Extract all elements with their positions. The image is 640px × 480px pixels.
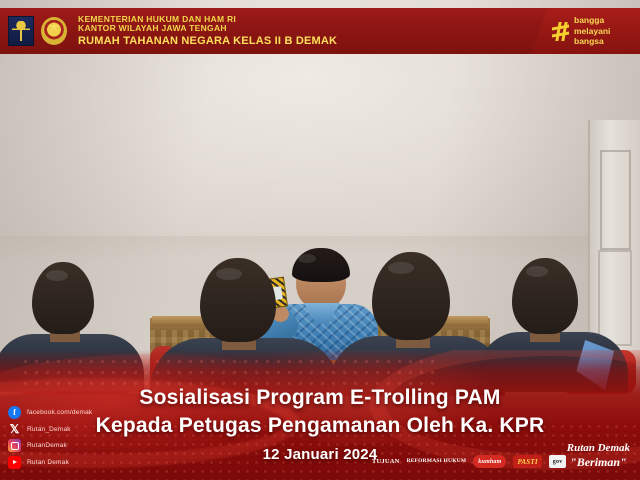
dot-texture: [20, 356, 440, 386]
header-line-2: KANTOR WILAYAH JAWA TENGAH: [78, 24, 337, 34]
social-item-x[interactable]: Rutan_Demak: [8, 423, 148, 436]
social-item-instagram[interactable]: RutanDemak: [8, 439, 148, 452]
kemenkumham-logo: kumham: [473, 455, 506, 468]
social-label: facebook.com/demak: [27, 409, 92, 416]
youtube-icon[interactable]: [8, 456, 21, 469]
brand-slogan-text: bangga melayani bangsa: [574, 15, 610, 46]
pengayoman-emblem-icon: [8, 16, 34, 46]
poster-image: KEMENTERIAN HUKUM DAN HAM RI KANTOR WILA…: [0, 0, 640, 480]
gov-logo: gov: [549, 455, 567, 468]
social-media-list: f facebook.com/demak Rutan_Demak RutanDe…: [8, 406, 148, 472]
reformasi-hukum-logo: REFORMASI HUKUM: [407, 455, 467, 468]
brand-line-3: bangsa: [574, 36, 610, 46]
indonesia-gold-emblem-icon: [40, 16, 68, 46]
social-label: RutanDemak: [27, 442, 67, 449]
officer-hair-highlight: [46, 270, 68, 281]
social-label: Rutan_Demak: [27, 426, 71, 433]
signature-line-2: "Beriman": [567, 455, 630, 470]
signature-block: Rutan Demak "Beriman": [567, 442, 630, 470]
officer-hair-highlight: [526, 266, 548, 277]
social-label: Rutan Demak: [27, 459, 69, 466]
instagram-icon[interactable]: [8, 439, 21, 452]
brand-line-1: bangga: [574, 15, 610, 25]
pasti-logo: PASTI: [513, 455, 541, 468]
brand-line-2: melayani: [574, 26, 610, 36]
brand-slogan-block: bangga melayani bangsa: [532, 8, 640, 54]
partner-logo-strip: TUJUAN REFORMASI HUKUM kumham PASTI gov: [372, 455, 566, 468]
facebook-icon[interactable]: f: [8, 406, 21, 419]
header-banner: KEMENTERIAN HUKUM DAN HAM RI KANTOR WILA…: [0, 8, 578, 54]
social-item-youtube[interactable]: Rutan Demak: [8, 456, 148, 469]
header-text-block: KEMENTERIAN HUKUM DAN HAM RI KANTOR WILA…: [78, 15, 337, 47]
x-twitter-icon[interactable]: [8, 423, 21, 436]
social-item-facebook[interactable]: f facebook.com/demak: [8, 406, 148, 419]
officer-hair-highlight: [216, 268, 242, 280]
officer-hair-highlight: [388, 262, 414, 274]
hashtag-icon: [552, 22, 569, 41]
header-line-3: RUMAH TAHANAN NEGARA KELAS II B DEMAK: [78, 35, 337, 47]
signature-line-1: Rutan Demak: [567, 442, 630, 454]
tujuan-logo: TUJUAN: [372, 455, 400, 468]
